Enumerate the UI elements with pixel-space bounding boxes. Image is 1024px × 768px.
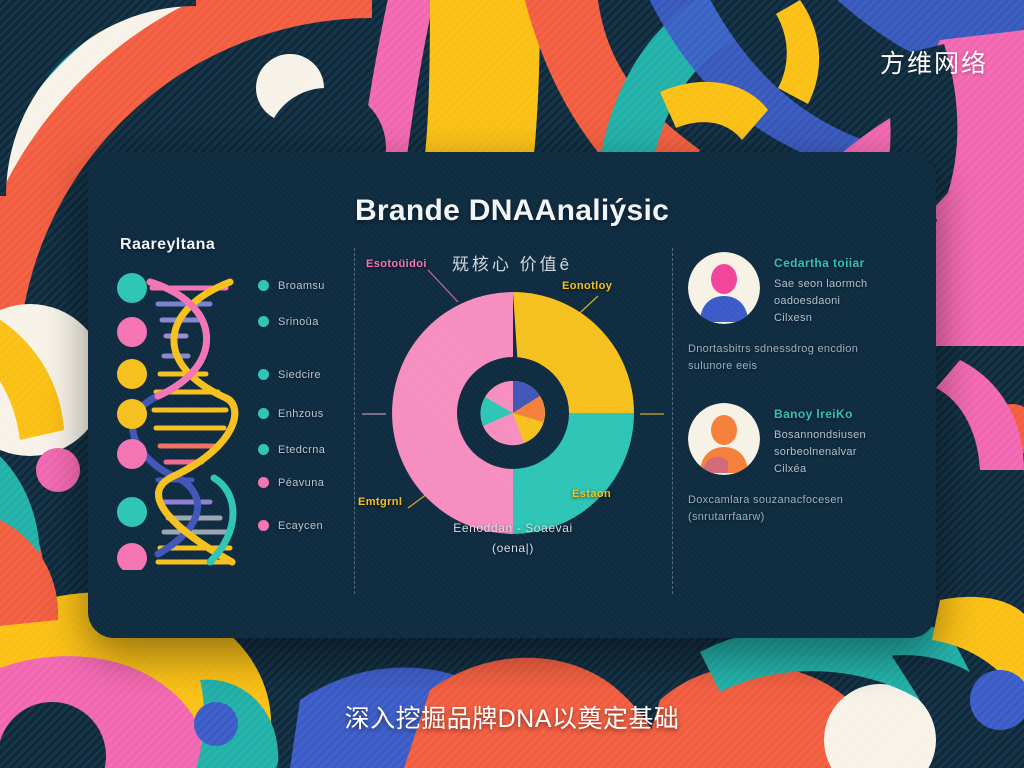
profile-line: Cilxéa xyxy=(774,461,866,478)
avatar xyxy=(688,403,760,475)
page-title: Brande DNAAnaliýsic xyxy=(88,194,936,228)
main-card: Brande DNAAnaliýsic 兓核心 价值ê Raareyltana xyxy=(88,152,936,638)
profile-line: Sae seon laormch xyxy=(774,276,867,293)
dna-legend: Broamsu Srinoūa Siedcire Enhzous Etedcrn… xyxy=(258,278,354,533)
divider-right xyxy=(672,248,673,594)
legend-label: Enhzous xyxy=(278,408,324,420)
profile-line: sorbeolnenalvar xyxy=(774,444,866,461)
legend-dot-icon xyxy=(258,408,269,419)
profile-line: Bosannondsiusen xyxy=(774,427,866,444)
legend-label: Ecaycen xyxy=(278,520,323,532)
list-item: Siedcire xyxy=(258,367,354,382)
chart-callout-top-left: Esotoüidoi xyxy=(366,258,427,270)
dna-panel-heading: Raareyltana xyxy=(120,236,354,254)
legend-dot-icon xyxy=(258,444,269,455)
donut-chart: Esotoüidoi Eonotloy Emtgrnl Estaon Eenod… xyxy=(354,240,672,630)
list-item: Etedcrna xyxy=(258,442,354,457)
legend-label: Etedcrna xyxy=(278,444,325,456)
profile-card[interactable]: Cedartha toiiar Sae seon laormch oadoesd… xyxy=(688,252,920,375)
donut-chart-svg xyxy=(384,284,642,542)
legend-dot-icon xyxy=(258,520,269,531)
list-item: Ecaycen xyxy=(258,518,354,533)
list-item: Broamsu xyxy=(258,278,354,293)
dna-panel: Raareyltana xyxy=(110,236,354,616)
legend-dot-icon xyxy=(258,280,269,291)
profile-line: oadoesdaoni xyxy=(774,293,867,310)
legend-label: Broamsu xyxy=(278,280,325,292)
profile-card[interactable]: Banoy lreiKo Bosannondsiusen sorbeolnena… xyxy=(688,403,920,526)
chart-callout-bottom-right: Estaon xyxy=(572,488,611,500)
profile-name: Banoy lreiKo xyxy=(774,407,866,421)
list-item: Péavuna xyxy=(258,475,354,490)
profiles-panel: Cedartha toiiar Sae seon laormch oadoesd… xyxy=(688,252,920,526)
chart-callout-bottom-left: Emtgrnl xyxy=(358,496,402,508)
profile-note: Dnortasbitrs sdnessdrog encdion sulunore… xyxy=(688,341,920,375)
infographic-root: 方维网络 Brande DNAAnaliýsic 兓核心 价值ê Raareyl… xyxy=(0,0,1024,768)
bottom-caption: 深入挖掘品牌DNA以奠定基础 xyxy=(0,699,1024,735)
dna-helix-icon xyxy=(114,270,244,570)
profile-line: Cilxesn xyxy=(774,310,867,327)
profile-note: Doxcamlara souzanacfocesen (snrutarrfaar… xyxy=(688,492,920,526)
legend-dot-icon xyxy=(258,369,269,380)
chart-callout-top-right: Eonotloy xyxy=(562,280,612,292)
legend-label: Siedcire xyxy=(278,369,321,381)
legend-label: Péavuna xyxy=(278,477,324,489)
legend-label: Srinoūa xyxy=(278,316,319,328)
legend-dot-icon xyxy=(258,316,269,327)
list-item: Enhzous xyxy=(258,406,354,421)
list-item: Srinoūa xyxy=(258,314,354,329)
chart-caption-title: Eenoddan - Soaevai xyxy=(354,518,672,538)
legend-dot-icon xyxy=(258,477,269,488)
chart-caption-subtitle: (oena|) xyxy=(354,538,672,558)
chart-caption: Eenoddan - Soaevai (oena|) xyxy=(354,518,672,558)
watermark-logo: 方维网络 xyxy=(880,44,988,80)
avatar xyxy=(688,252,760,324)
profile-name: Cedartha toiiar xyxy=(774,256,867,270)
